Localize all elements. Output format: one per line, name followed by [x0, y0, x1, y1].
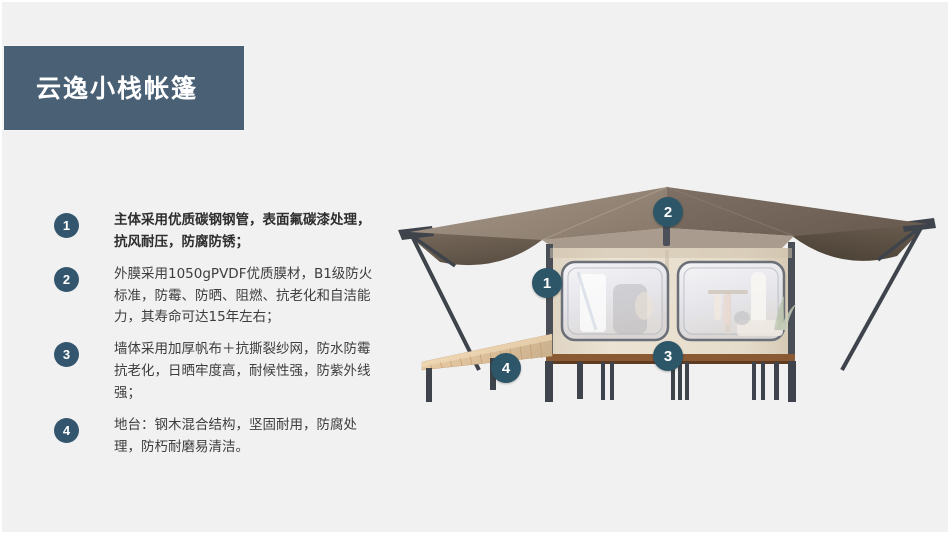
- list-item: 4 地台：钢木混合结构，坚固耐用，防腐处理，防朽耐磨易清洁。: [54, 415, 374, 459]
- feature-text-1: 主体采用优质碳钢钢管，表面氟碳漆处理，抗风耐压，防腐防锈；: [114, 210, 374, 254]
- image-marker-3[interactable]: 3: [653, 341, 683, 371]
- window-right-mesh: [684, 268, 778, 334]
- window-left-mesh: [568, 268, 662, 334]
- image-marker-1[interactable]: 1: [532, 268, 562, 298]
- list-item: 2 外膜采用1050gPVDF优质膜材，B1级防火标准，防霉、防晒、阻燃、抗老化…: [54, 264, 374, 330]
- list-item: 1 主体采用优质碳钢钢管，表面氟碳漆处理，抗风耐压，防腐防锈；: [54, 210, 374, 254]
- stilt-leg-2: [577, 362, 583, 399]
- corner-post-right: [788, 242, 795, 366]
- stilt-leg-8: [752, 362, 756, 400]
- feature-text-2: 外膜采用1050gPVDF优质膜材，B1级防火标准，防霉、防晒、阻燃、抗老化和自…: [114, 264, 374, 330]
- feature-number-badge-2: 2: [54, 267, 79, 292]
- list-item: 3 墙体采用加厚帆布＋抗撕裂纱网，防水防霉抗老化，日晒牢度高，耐候性强，防紫外线…: [54, 339, 374, 405]
- image-marker-4[interactable]: 4: [491, 353, 521, 383]
- stilt-leg-11: [788, 361, 796, 402]
- roof-peak-fitting: [663, 224, 670, 246]
- stilt-leg-7: [685, 362, 689, 400]
- feature-list: 1 主体采用优质碳钢钢管，表面氟碳漆处理，抗风耐压，防腐防锈； 2 外膜采用10…: [54, 210, 374, 469]
- stilt-leg-9: [761, 362, 765, 400]
- feature-text-3: 墙体采用加厚帆布＋抗撕裂纱网，防水防霉抗老化，日晒牢度高，耐候性强，防紫外线强；: [114, 339, 374, 405]
- feature-number-badge-4: 4: [54, 418, 79, 443]
- slide-canvas: 云逸小栈帐篷 1 主体采用优质碳钢钢管，表面氟碳漆处理，抗风耐压，防腐防锈； 2…: [0, 0, 950, 534]
- wall-top-shadow: [550, 248, 792, 258]
- stilt-leg-3: [601, 362, 605, 400]
- stilt-leg-1: [545, 361, 553, 402]
- stilt-leg-4: [610, 362, 614, 400]
- feature-number-badge-3: 3: [54, 342, 79, 367]
- title-banner: 云逸小栈帐篷: [4, 46, 244, 130]
- stilt-leg-10: [774, 362, 779, 400]
- stilt-leg-6: [678, 362, 682, 400]
- deck-leg-1: [426, 368, 432, 402]
- feature-text-4: 地台：钢木混合结构，坚固耐用，防腐处理，防朽耐磨易清洁。: [114, 415, 374, 459]
- image-marker-2[interactable]: 2: [653, 197, 683, 227]
- page-title: 云逸小栈帐篷: [36, 76, 198, 101]
- feature-number-badge-1: 1: [54, 213, 79, 238]
